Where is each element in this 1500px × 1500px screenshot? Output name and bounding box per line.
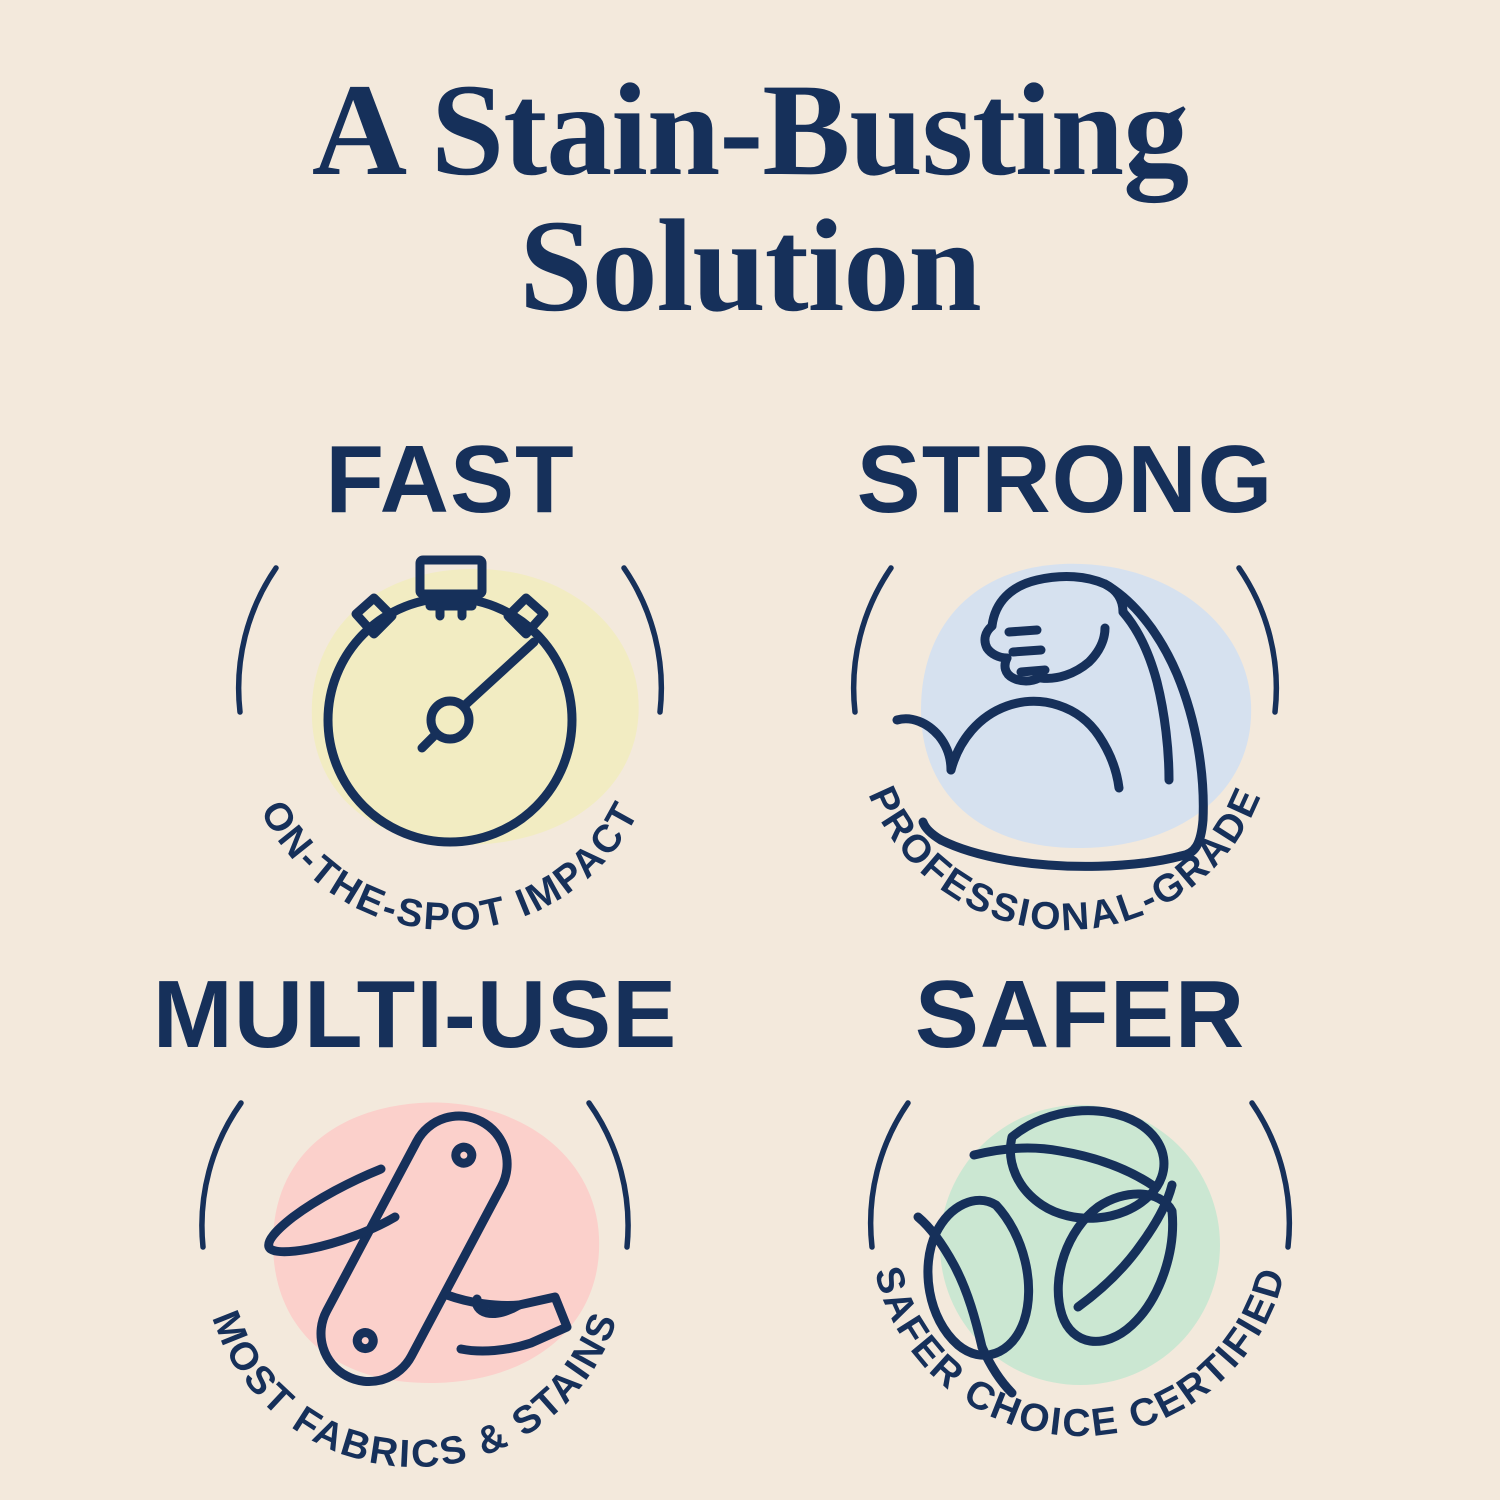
badge-fast: FAST O bbox=[130, 420, 770, 940]
badge-safer-arc-right bbox=[1252, 1103, 1289, 1247]
page-title-line-2: Solution bbox=[0, 198, 1500, 334]
infographic-poster: A Stain-Busting Solution FAST bbox=[0, 0, 1500, 1500]
badge-fast-title: FAST bbox=[325, 426, 574, 533]
badge-safer: SAFER SAFER C bbox=[760, 955, 1400, 1475]
badge-multiuse-arc-left bbox=[202, 1103, 241, 1247]
badge-strong-arc-left bbox=[854, 568, 891, 712]
page-title: A Stain-Busting Solution bbox=[0, 62, 1500, 334]
badge-multiuse: MULTI-USE bbox=[95, 955, 735, 1475]
benefit-badge-grid: FAST O bbox=[0, 400, 1500, 1480]
badge-fast-arc-left bbox=[239, 568, 276, 712]
badge-strong: STRONG bbox=[745, 420, 1385, 940]
badge-multiuse-title: MULTI-USE bbox=[153, 961, 677, 1068]
page-title-line-1: A Stain-Busting bbox=[0, 62, 1500, 198]
badge-safer-title: SAFER bbox=[915, 961, 1245, 1068]
badge-strong-title: STRONG bbox=[857, 426, 1274, 533]
badge-safer-arc-left bbox=[871, 1103, 908, 1247]
